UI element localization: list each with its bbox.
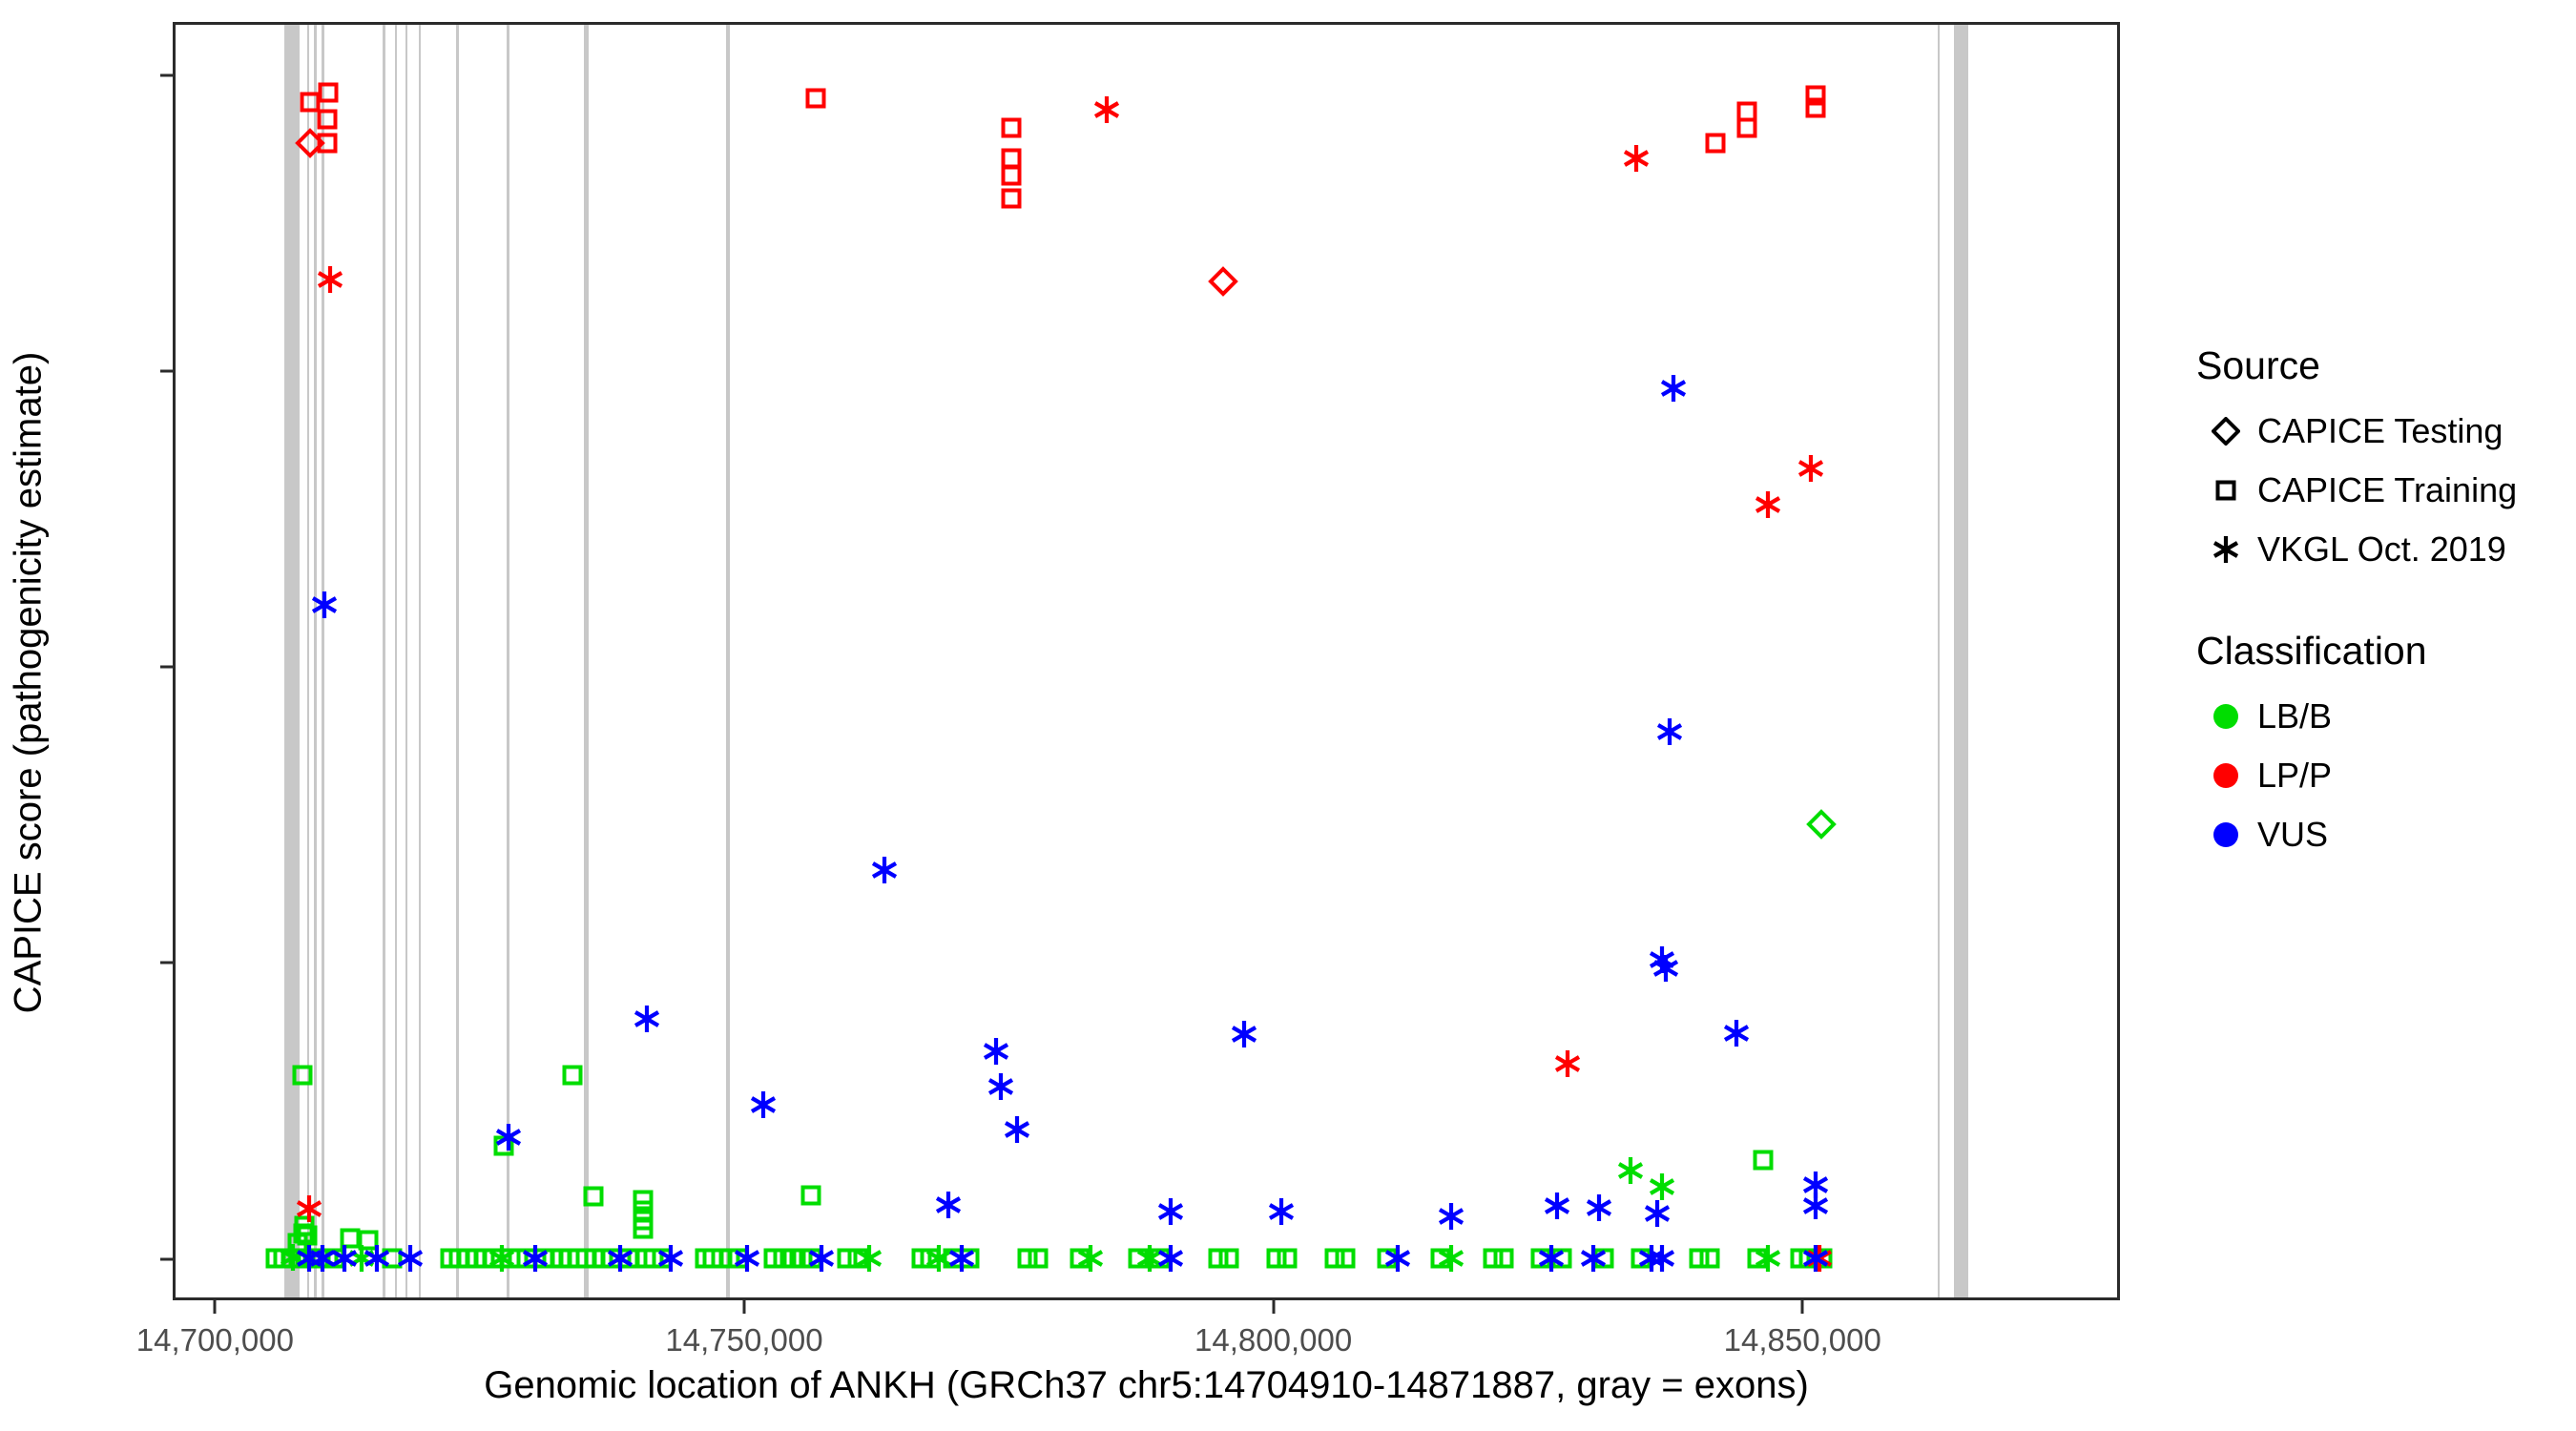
data-point [1622, 144, 1651, 173]
exon-band [284, 25, 300, 1297]
data-point [483, 1248, 504, 1269]
data-point [302, 1248, 323, 1269]
data-point [1643, 1199, 1672, 1228]
legend-item-label: LB/B [2257, 696, 2332, 736]
data-point [1383, 1244, 1412, 1273]
data-point [1736, 101, 1757, 122]
x-axis-label: Genomic location of ANKH (GRCh37 chr5:14… [173, 1364, 2120, 1407]
exon-band [405, 25, 407, 1297]
data-point [643, 1248, 664, 1269]
data-point [1537, 1244, 1566, 1273]
data-point [592, 1248, 613, 1269]
exon-band [456, 25, 459, 1297]
data-point [340, 1228, 361, 1249]
legend-item-label: VUS [2257, 815, 2328, 855]
y-tick-mark [160, 962, 173, 964]
data-point [1801, 1192, 1830, 1220]
data-point [1150, 1248, 1171, 1269]
data-point [1616, 1156, 1645, 1185]
data-point [1790, 1248, 1811, 1269]
data-point [959, 1248, 980, 1269]
data-point [1637, 1244, 1666, 1273]
data-point [837, 1248, 858, 1269]
x-tick-label: 14,800,000 [1195, 1322, 1352, 1358]
diamond-outline-icon [2194, 417, 2257, 446]
square-outline-icon [2194, 480, 2257, 501]
exon-band [507, 25, 509, 1297]
data-point [1543, 1192, 1571, 1220]
data-point [800, 1185, 821, 1206]
data-point [1218, 1248, 1239, 1269]
data-point [807, 1244, 836, 1273]
data-point [1798, 1248, 1819, 1269]
legend-group-source: Source CAPICE TestingCAPICE TrainingVKGL… [2194, 343, 2576, 579]
data-point [1076, 1244, 1105, 1273]
data-point [1483, 1248, 1504, 1269]
legend-item-vkgl-oct-2019[interactable]: VKGL Oct. 2019 [2194, 520, 2576, 579]
data-point [1128, 1248, 1149, 1269]
data-point [474, 1248, 495, 1269]
data-point [1324, 1248, 1345, 1269]
legend-item-label: LP/P [2257, 756, 2332, 796]
data-point [920, 1248, 941, 1269]
data-point [1530, 1248, 1551, 1269]
legend-item-capice-testing[interactable]: CAPICE Testing [2194, 402, 2576, 461]
data-point [1648, 1244, 1676, 1273]
data-point [934, 1191, 963, 1219]
data-point [1801, 1171, 1830, 1199]
data-point [317, 109, 338, 130]
data-point [1001, 117, 1022, 138]
legend-title-classification: Classification [2196, 629, 2576, 674]
y-axis-label: CAPICE score (pathogenicity estimate) [8, 158, 51, 1208]
data-point [448, 1248, 469, 1269]
data-point [924, 1244, 953, 1273]
data-point [773, 1248, 794, 1269]
legend-item-vus[interactable]: VUS [2194, 805, 2576, 864]
data-point [749, 1090, 778, 1119]
exon-band [314, 25, 316, 1297]
data-point [316, 265, 344, 294]
data-point [1001, 148, 1022, 169]
legend-title-source: Source [2196, 343, 2576, 388]
data-point [633, 1200, 654, 1221]
exon-band [584, 25, 589, 1297]
filled-circle-icon [2194, 822, 2257, 847]
data-point [702, 1248, 723, 1269]
y-tick-mark [160, 370, 173, 373]
y-tick-mark [160, 1257, 173, 1260]
data-point [1266, 1248, 1287, 1269]
data-point [457, 1248, 478, 1269]
data-point [782, 1248, 803, 1269]
data-point [358, 1230, 379, 1251]
data-point [1230, 1020, 1258, 1048]
data-point [1593, 1248, 1614, 1269]
data-point [1551, 1248, 1572, 1269]
data-point [324, 1248, 345, 1269]
data-point [1003, 1115, 1031, 1144]
filled-circle-icon [2194, 763, 2257, 788]
x-tick-mark [1272, 1300, 1275, 1314]
data-point [987, 1072, 1015, 1101]
data-point [982, 1037, 1010, 1066]
data-point [310, 1248, 331, 1269]
data-point [1648, 945, 1676, 974]
data-point [1135, 1244, 1164, 1273]
data-point [1437, 1202, 1465, 1231]
data-point [627, 1248, 648, 1269]
data-point [1070, 1248, 1091, 1269]
data-point [911, 1248, 932, 1269]
data-point [656, 1244, 685, 1273]
data-point [801, 1248, 822, 1269]
y-tick-mark [160, 666, 173, 669]
data-point [1754, 1244, 1782, 1273]
data-point [1028, 1248, 1049, 1269]
data-point [633, 1210, 654, 1231]
exon-band [726, 25, 730, 1297]
data-point [1648, 1172, 1676, 1201]
data-point [521, 1244, 550, 1273]
x-tick-label: 14,700,000 [136, 1322, 294, 1358]
exon-band [383, 25, 385, 1297]
data-point [870, 856, 899, 884]
legend-item-label: VKGL Oct. 2019 [2257, 529, 2506, 570]
data-point [500, 1248, 521, 1269]
chart-root: CAPICE score (pathogenicity estimate) 0.… [0, 0, 2576, 1431]
legend-group-classification: Classification LB/BLP/PVUS [2194, 629, 2576, 864]
data-point [1335, 1248, 1356, 1269]
data-point [296, 129, 324, 157]
x-tick-mark [1801, 1300, 1804, 1314]
data-point [1631, 1248, 1652, 1269]
data-point [1585, 1193, 1613, 1222]
data-point [1209, 267, 1237, 296]
data-point [488, 1244, 516, 1273]
legend-items-classification: LB/BLP/PVUS [2194, 687, 2576, 864]
data-point [601, 1248, 622, 1269]
legend-item-capice-training[interactable]: CAPICE Training [2194, 461, 2576, 520]
data-point [1754, 490, 1782, 519]
exon-band [1954, 25, 1969, 1297]
asterisk-icon [2194, 535, 2257, 564]
data-point [1807, 810, 1836, 839]
data-point [300, 92, 321, 113]
data-point [1430, 1248, 1451, 1269]
legend-item-lp-p[interactable]: LP/P [2194, 746, 2576, 805]
data-point [551, 1248, 571, 1269]
y-tick-mark [160, 73, 173, 76]
exon-band [419, 25, 421, 1297]
data-point [1689, 1248, 1710, 1269]
data-point [633, 1005, 661, 1033]
data-point [1659, 374, 1688, 403]
data-point [516, 1248, 537, 1269]
x-tick-label: 14,750,000 [665, 1322, 822, 1358]
legend-items-source: CAPICE TestingCAPICE TrainingVKGL Oct. 2… [2194, 402, 2576, 579]
data-point [633, 1190, 654, 1211]
data-point [493, 1135, 514, 1156]
data-point [533, 1248, 554, 1269]
data-point [1156, 1244, 1185, 1273]
data-point [1377, 1248, 1398, 1269]
data-point [618, 1248, 639, 1269]
data-point [508, 1248, 529, 1269]
data-point [265, 1248, 286, 1269]
data-point [943, 1248, 964, 1269]
data-point [466, 1248, 487, 1269]
data-point [330, 1244, 359, 1273]
data-point [562, 1065, 583, 1086]
data-point [1797, 454, 1825, 483]
data-point [1805, 1244, 1834, 1273]
data-point [1267, 1197, 1296, 1226]
data-point [792, 1248, 813, 1269]
data-point [559, 1248, 580, 1269]
data-point [1736, 117, 1757, 138]
data-point [1699, 1248, 1720, 1269]
data-point [606, 1244, 634, 1273]
plot-panel [173, 22, 2120, 1300]
data-point [1017, 1248, 1038, 1269]
data-point [317, 133, 338, 154]
data-point [1156, 1197, 1185, 1226]
data-point [1722, 1019, 1751, 1047]
data-point [1493, 1248, 1514, 1269]
exon-band [395, 25, 397, 1297]
data-point [347, 1244, 376, 1273]
data-point [1812, 1248, 1833, 1269]
data-point [1805, 97, 1826, 118]
data-point [318, 1248, 339, 1269]
data-point [1805, 85, 1826, 106]
data-point [847, 1248, 868, 1269]
legend-item-label: CAPICE Testing [2257, 411, 2503, 451]
data-point [1437, 1244, 1465, 1273]
data-point [1747, 1248, 1768, 1269]
data-point [1705, 133, 1726, 154]
legend-item-label: CAPICE Training [2257, 470, 2517, 510]
data-point [1801, 1244, 1830, 1273]
filled-circle-icon [2194, 704, 2257, 729]
data-point [1092, 95, 1121, 124]
data-point [363, 1244, 391, 1273]
data-point [542, 1248, 563, 1269]
data-point [1001, 188, 1022, 209]
data-point [1652, 954, 1680, 983]
data-point [1579, 1244, 1608, 1273]
x-tick-mark [214, 1300, 217, 1314]
data-point [1753, 1150, 1774, 1171]
data-point [635, 1248, 656, 1269]
data-point [1208, 1248, 1229, 1269]
data-point [1001, 165, 1022, 186]
x-tick-label: 14,850,000 [1724, 1322, 1881, 1358]
data-point [805, 88, 826, 109]
data-point [1277, 1248, 1298, 1269]
data-point [1655, 717, 1684, 746]
data-point [947, 1244, 976, 1273]
data-point [695, 1248, 716, 1269]
legend: Source CAPICE TestingCAPICE TrainingVKGL… [2194, 343, 2576, 914]
plot-area [176, 25, 2117, 1297]
exon-band [322, 25, 324, 1297]
exon-band [307, 25, 309, 1297]
data-point [652, 1248, 673, 1269]
x-tick-mark [742, 1300, 745, 1314]
exon-band [1938, 25, 1940, 1297]
data-point [763, 1248, 784, 1269]
data-point [855, 1244, 883, 1273]
legend-item-lb-b[interactable]: LB/B [2194, 687, 2576, 746]
data-point [633, 1218, 654, 1239]
data-point [728, 1248, 749, 1269]
data-point [1553, 1049, 1582, 1078]
data-point [733, 1244, 761, 1273]
